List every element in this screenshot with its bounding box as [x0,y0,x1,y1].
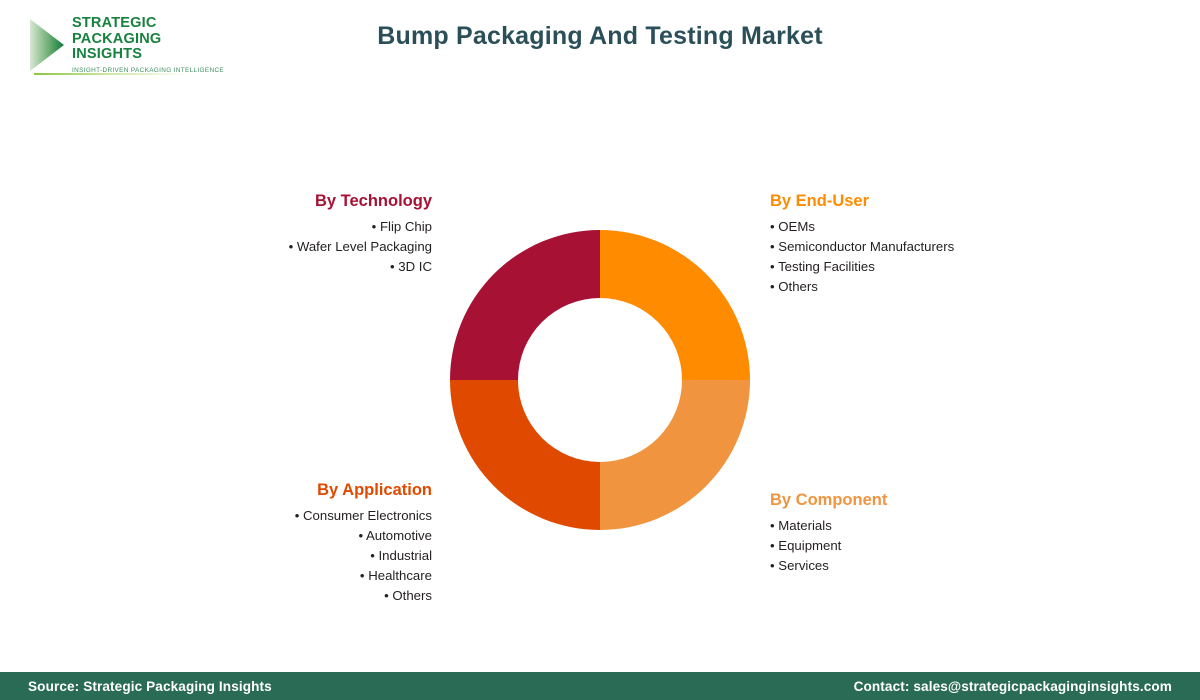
list-item-label: Materials [778,518,832,533]
segment-technology-list: • Flip Chip • Wafer Level Packaging • 3D… [210,217,432,277]
list-item-label: Others [778,279,818,294]
list-item-label: Semiconductor Manufacturers [778,239,954,254]
list-item-label: Others [392,588,432,603]
bullet-icon: • [358,528,363,543]
segment-enduser: By End-User • OEMs • Semiconductor Manuf… [770,192,1070,297]
list-item-label: Equipment [778,538,841,553]
list-item: • Equipment [770,536,1070,556]
list-item: • Automotive [210,526,432,546]
list-item: • Semiconductor Manufacturers [770,237,1070,257]
donut-slice-component [600,380,750,530]
bullet-icon: • [770,518,775,533]
segment-application-title: By Application [210,481,432,499]
footer-source: Source: Strategic Packaging Insights [28,679,272,694]
bullet-icon: • [384,588,389,603]
bullet-icon: • [370,548,375,563]
list-item-label: Industrial [378,548,432,563]
logo-underline-divider [34,73,189,75]
segment-enduser-list: • OEMs • Semiconductor Manufacturers • T… [770,217,1070,297]
bullet-icon: • [770,219,775,234]
list-item: • 3D IC [210,257,432,277]
list-item-label: 3D IC [398,259,432,274]
list-item-label: Services [778,558,829,573]
list-item: • Industrial [210,546,432,566]
segment-component: By Component • Materials • Equipment • S… [770,491,1070,576]
segment-component-title: By Component [770,491,1070,509]
bullet-icon: • [770,239,775,254]
list-item: • Materials [770,516,1070,536]
list-item-label: Healthcare [368,568,432,583]
list-item: • Services [770,556,1070,576]
list-item-label: Consumer Electronics [303,508,432,523]
list-item-label: Automotive [366,528,432,543]
list-item-label: Testing Facilities [778,259,875,274]
segment-technology-title: By Technology [210,192,432,210]
list-item: • Others [770,277,1070,297]
list-item: • Others [210,586,432,606]
donut-slice-technology [450,230,600,380]
bullet-icon: • [390,259,395,274]
list-item: • Testing Facilities [770,257,1070,277]
bullet-icon: • [770,558,775,573]
bullet-icon: • [770,259,775,274]
bullet-icon: • [770,538,775,553]
list-item-label: Flip Chip [380,219,432,234]
list-item: • Consumer Electronics [210,506,432,526]
bullet-icon: • [289,239,294,254]
page-title: Bump Packaging And Testing Market [0,22,1200,51]
segment-application: By Application • Consumer Electronics • … [210,481,432,606]
list-item: • OEMs [770,217,1070,237]
donut-chart-svg [450,230,750,530]
list-item: • Healthcare [210,566,432,586]
bullet-icon: • [770,279,775,294]
list-item: • Flip Chip [210,217,432,237]
bullet-icon: • [295,508,300,523]
bullet-icon: • [372,219,377,234]
footer-contact[interactable]: Contact: sales@strategicpackaginginsight… [854,679,1172,694]
list-item: • Wafer Level Packaging [210,237,432,257]
list-item-label: OEMs [778,219,815,234]
list-item-label: Wafer Level Packaging [297,239,432,254]
donut-slice-enduser [600,230,750,380]
donut-slice-application [450,380,600,530]
bullet-icon: • [360,568,365,583]
segment-application-list: • Consumer Electronics • Automotive • In… [210,506,432,606]
footer-bar: Source: Strategic Packaging Insights Con… [0,672,1200,700]
donut-chart [450,230,750,530]
segment-enduser-title: By End-User [770,192,1070,210]
segment-component-list: • Materials • Equipment • Services [770,516,1070,576]
segment-technology: By Technology • Flip Chip • Wafer Level … [210,192,432,277]
